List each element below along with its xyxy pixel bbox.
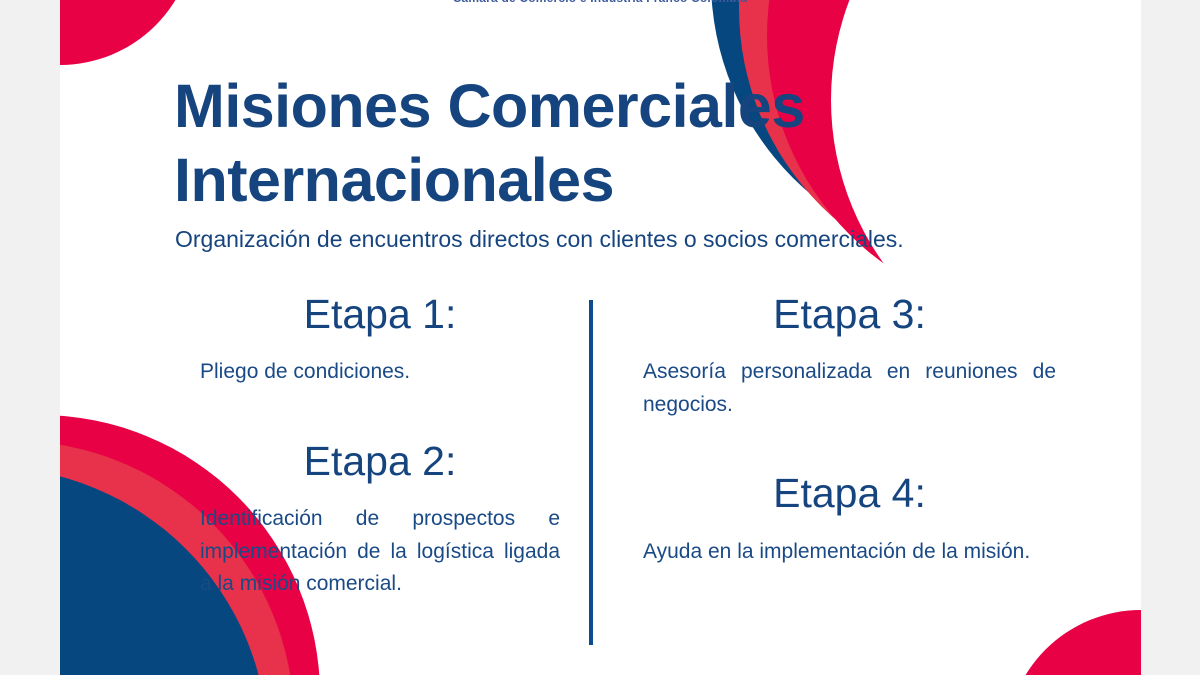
stage-2-body: Identificación de prospectos e implement… — [200, 503, 560, 601]
stage-2-heading: Etapa 2: — [200, 437, 560, 485]
slide-card: Misiones Comerciales Internacionales Org… — [60, 0, 1141, 675]
stage-1-heading: Etapa 1: — [200, 290, 560, 338]
stage-4-heading: Etapa 4: — [643, 469, 1056, 517]
stage-block-3: Etapa 3: Asesoría personalizada en reuni… — [643, 290, 1056, 421]
stage-4-body: Ayuda en la implementación de la misión. — [643, 536, 1056, 569]
stages-column-right: Etapa 3: Asesoría personalizada en reuni… — [643, 290, 1056, 616]
stage-1-body: Pliego de condiciones. — [200, 356, 560, 389]
page-subtitle: Organización de encuentros directos con … — [175, 225, 1075, 255]
stages-column-left: Etapa 1: Pliego de condiciones. Etapa 2:… — [200, 290, 560, 649]
stage-3-body: Asesoría personalizada en reuniones de n… — [643, 356, 1056, 421]
slide-content: Misiones Comerciales Internacionales Org… — [60, 0, 1141, 675]
stage-3-heading: Etapa 3: — [643, 290, 1056, 338]
presentation-slide-canvas: Cámara de Comercio e Industria Franco Co… — [0, 0, 1200, 675]
stage-block-1: Etapa 1: Pliego de condiciones. — [200, 290, 560, 389]
stage-block-4: Etapa 4: Ayuda en la implementación de l… — [643, 469, 1056, 568]
stage-block-2: Etapa 2: Identificación de prospectos e … — [200, 437, 560, 601]
column-divider — [589, 300, 593, 645]
page-title: Misiones Comerciales Internacionales — [174, 69, 1024, 218]
